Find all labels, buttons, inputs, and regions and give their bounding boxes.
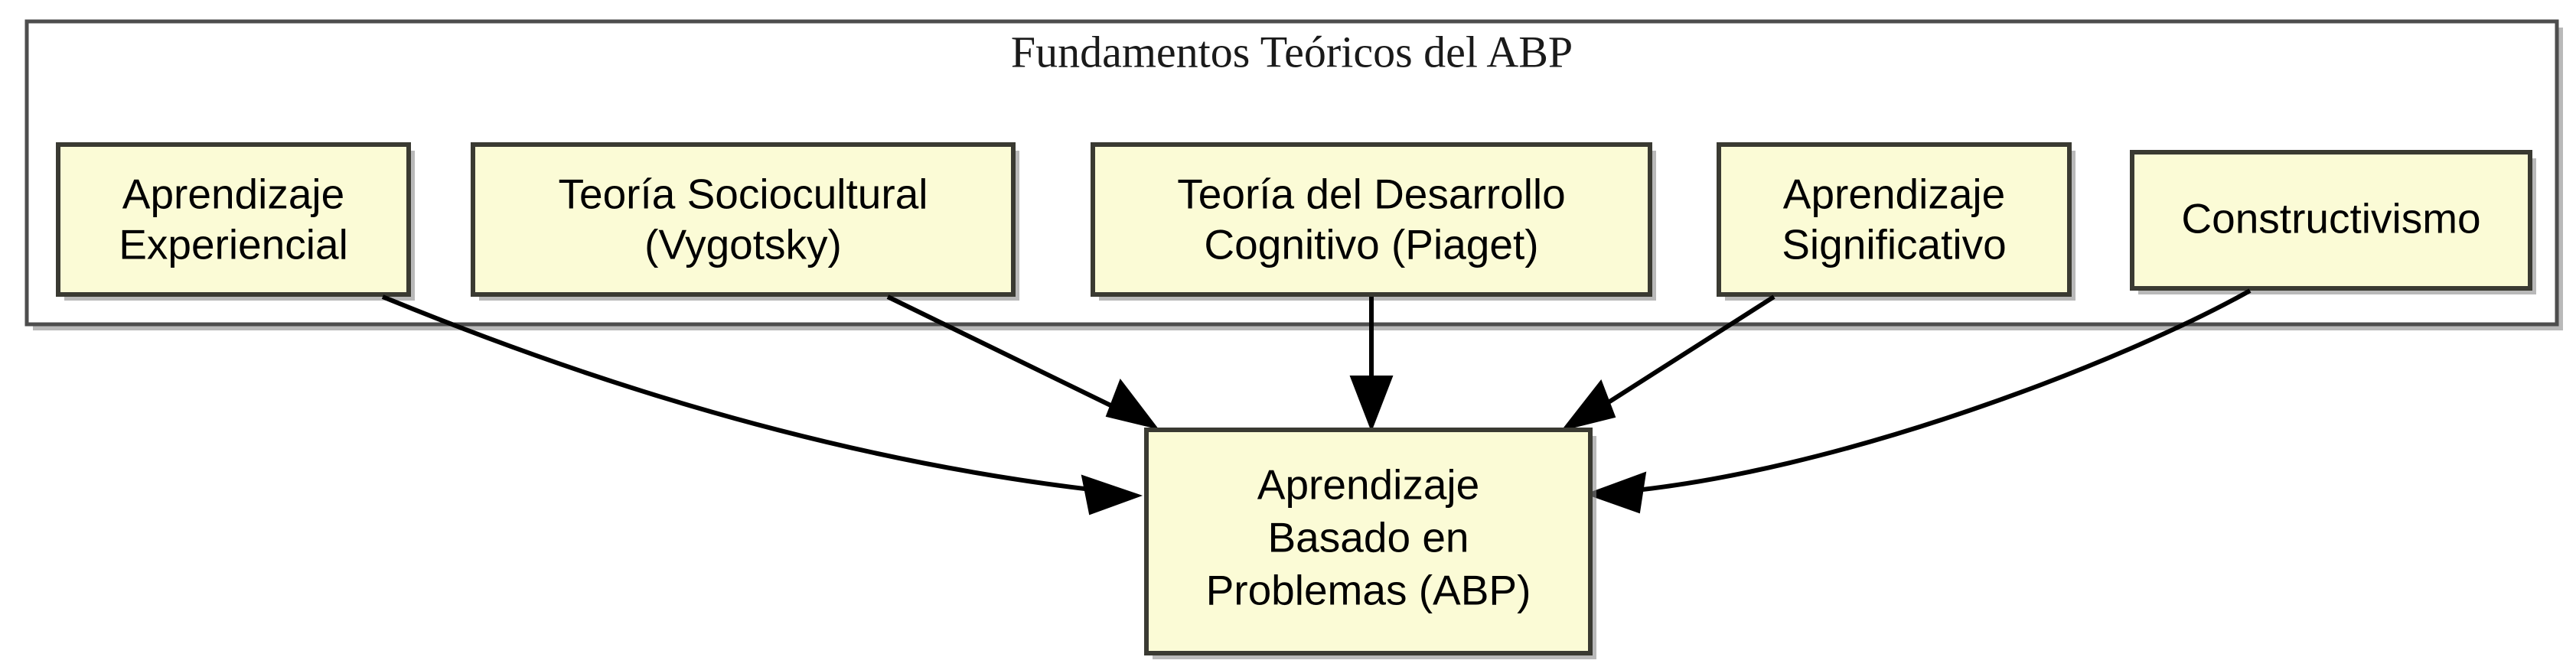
edge-arrowhead bbox=[1082, 476, 1140, 514]
node-constructivismo[interactable]: Constructivismo bbox=[2132, 152, 2536, 294]
node-label-line-2: (Vygotsky) bbox=[644, 221, 842, 268]
edge-arrowhead bbox=[1351, 376, 1392, 430]
node-label-line-2: Experiencial bbox=[119, 221, 348, 268]
edge-arrowhead bbox=[1107, 380, 1157, 428]
diagram-root: Fundamentos Teóricos del ABP Aprendizaje… bbox=[0, 0, 2576, 670]
node-label-line-1: Aprendizaje bbox=[1257, 461, 1479, 509]
node-teoria-sociocultural[interactable]: Teoría Sociocultural (Vygotsky) bbox=[473, 145, 1019, 301]
node-label-line-2: Cognitivo (Piaget) bbox=[1204, 221, 1538, 268]
edge-arrowhead bbox=[1563, 381, 1615, 430]
node-label-line-1: Aprendizaje bbox=[1783, 171, 2005, 218]
node-aprendizaje-experiencial[interactable]: Aprendizaje Experiencial bbox=[58, 145, 415, 301]
node-box[interactable] bbox=[473, 145, 1013, 294]
node-box[interactable] bbox=[58, 145, 409, 294]
diagram-canvas: Fundamentos Teóricos del ABP Aprendizaje… bbox=[0, 0, 2576, 670]
node-abp[interactable]: Aprendizaje Basado en Problemas (ABP) bbox=[1146, 430, 1596, 659]
node-label-line-1: Teoría del Desarrollo bbox=[1177, 171, 1565, 218]
node-label-line-1: Constructivismo bbox=[2181, 195, 2480, 242]
node-label-line-2: Significativo bbox=[1782, 221, 2006, 268]
node-box[interactable] bbox=[1093, 145, 1650, 294]
node-label-line-1: Teoría Sociocultural bbox=[558, 171, 928, 218]
node-teoria-desarrollo-cognitivo[interactable]: Teoría del Desarrollo Cognitivo (Piaget) bbox=[1093, 145, 1656, 301]
node-label-line-1: Aprendizaje bbox=[122, 171, 344, 218]
cluster-title: Fundamentos Teóricos del ABP bbox=[1011, 27, 1573, 76]
node-label-line-3: Problemas (ABP) bbox=[1206, 567, 1531, 614]
node-label-line-2: Basado en bbox=[1268, 514, 1469, 561]
node-aprendizaje-significativo[interactable]: Aprendizaje Significativo bbox=[1719, 145, 2075, 301]
node-box[interactable] bbox=[1719, 145, 2069, 294]
